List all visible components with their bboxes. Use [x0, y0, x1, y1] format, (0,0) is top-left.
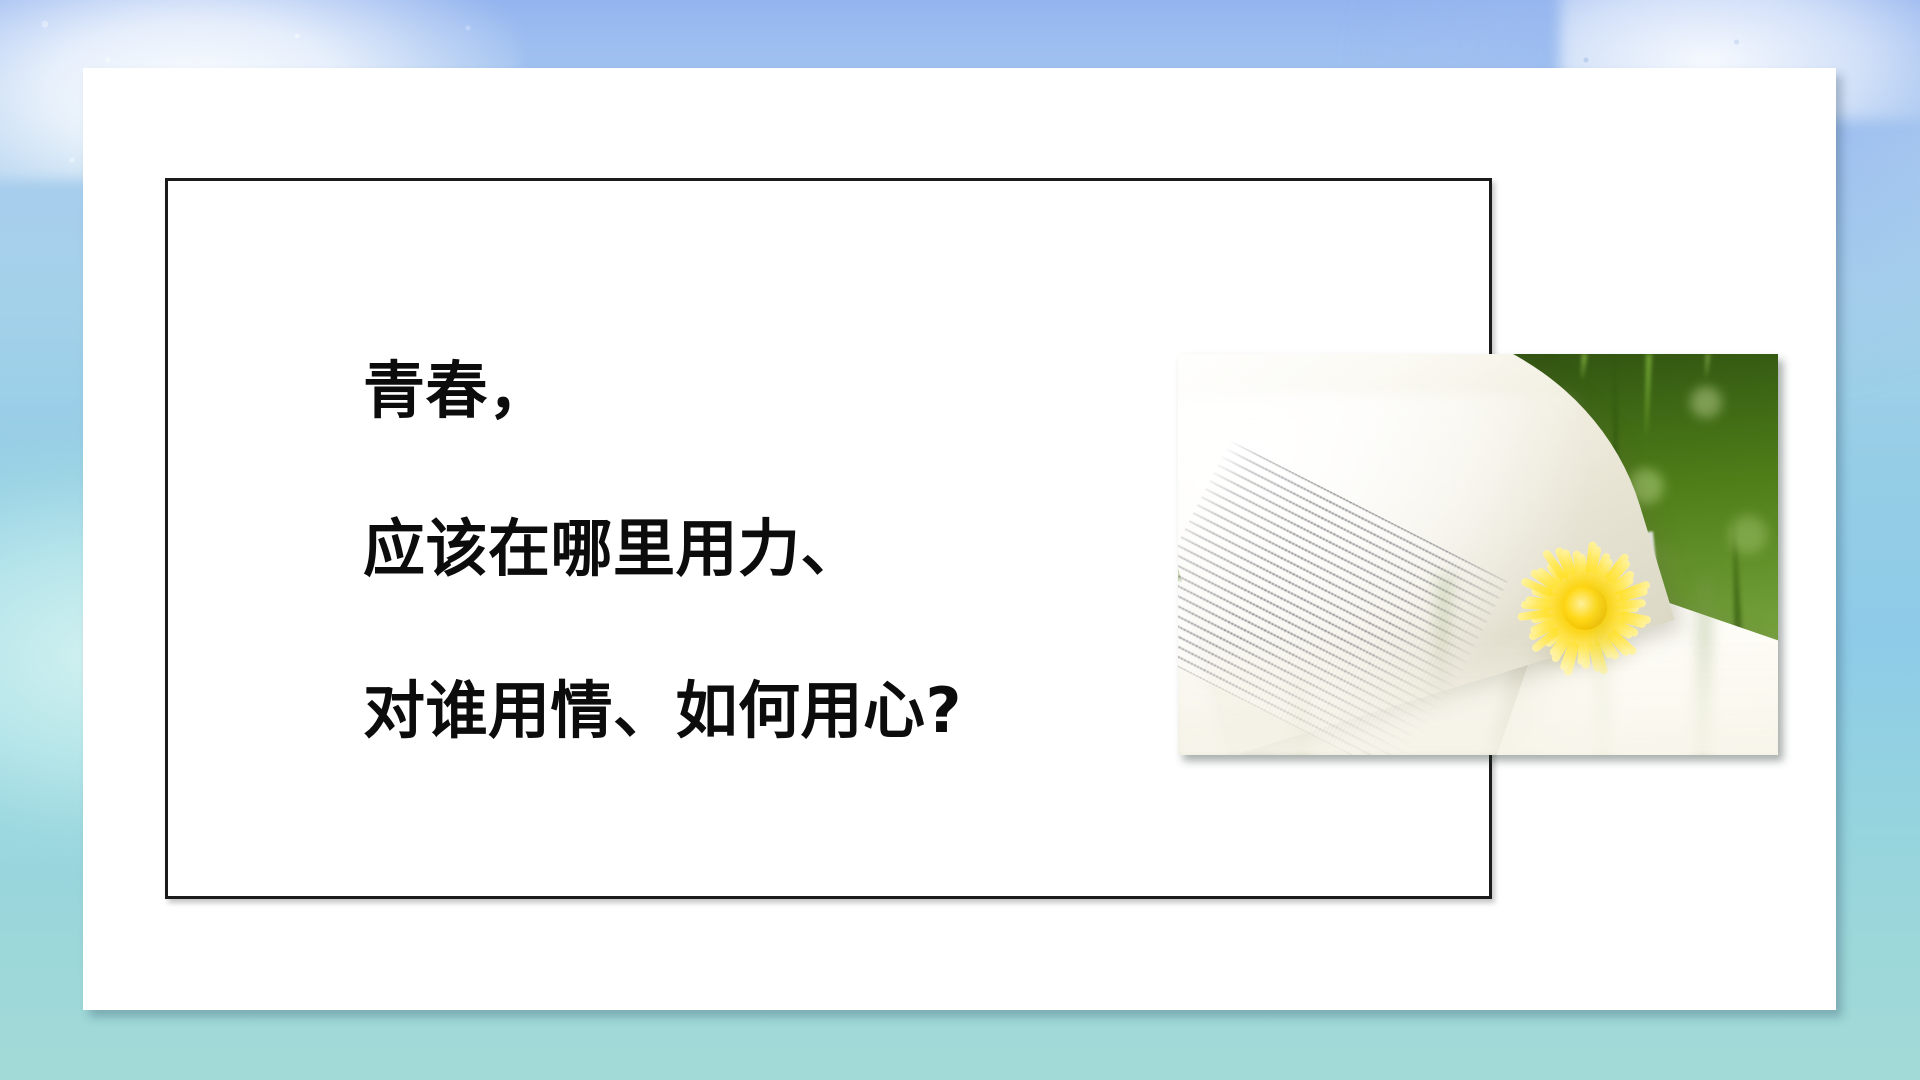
presentation-slide: 青春， 应该在哪里用力、 对谁用情、如何用心? [0, 0, 1920, 1080]
headline-text-block: 青春， 应该在哪里用力、 对谁用情、如何用心? [363, 360, 1123, 742]
headline-line-1: 青春， [363, 360, 1123, 422]
headline-line-2: 应该在哪里用力、 [363, 518, 1123, 580]
headline-line-3: 对谁用情、如何用心? [363, 680, 1123, 742]
book-in-grass-photo [1178, 354, 1778, 755]
photo-bottom-haze [1178, 635, 1778, 755]
photo-inner [1178, 354, 1778, 755]
